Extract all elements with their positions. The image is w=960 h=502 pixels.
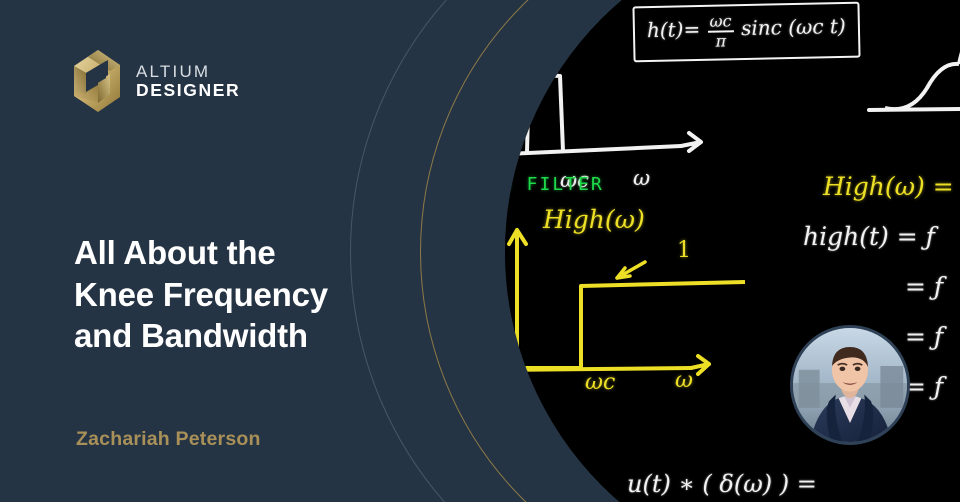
equation-high-t: high(t) = ƒ: [803, 224, 935, 249]
logo-wordmark: ALTIUM DESIGNER: [136, 62, 240, 101]
equation-denominator: π: [715, 32, 726, 49]
equation-line-4: = ƒ: [905, 374, 943, 399]
yellow-curve-fragment: [519, 0, 559, 34]
equation-numerator: ωc: [707, 13, 733, 33]
label-unity-yellow: 1: [677, 240, 691, 262]
altium-logo-mark: [72, 48, 122, 114]
title-line-2: Knee Frequency: [74, 276, 328, 313]
avatar-portrait: [793, 328, 907, 442]
equation-convolution: u(t) ∗ ( δ(ω) ) =: [627, 472, 817, 496]
title-line-1: All About the: [74, 234, 275, 271]
lowpass-plot-white: [505, 52, 735, 172]
equation-fraction: ωc π: [707, 13, 734, 50]
page-title: All About the Knee Frequency and Bandwid…: [74, 232, 454, 357]
boxed-equation: h(t)= ωc π sinc (ωc t): [632, 2, 860, 63]
label-omega-white: ω: [633, 168, 650, 189]
equation-lhs: h(t)=: [647, 19, 701, 40]
logo-line-altium: ALTIUM: [136, 62, 240, 81]
sinc-curve-plot: [865, 0, 960, 142]
article-banner: ωc ω h(t)= ωc π sinc (ωc t) S FILTER: [0, 0, 960, 502]
author-byline: Zachariah Peterson: [76, 428, 261, 451]
equation-line-2: = ƒ: [905, 274, 943, 299]
equation-high-omega: High(ω) =: [823, 174, 954, 199]
equation-rhs: sinc (ωc t): [741, 16, 846, 38]
author-avatar: [790, 325, 910, 445]
label-filter-green: S FILTER: [505, 176, 604, 194]
title-line-3: and Bandwidth: [74, 317, 308, 354]
equation-line-3: = ƒ: [905, 324, 943, 349]
logo-line-designer: DESIGNER: [136, 81, 240, 101]
altium-designer-logo[interactable]: ALTIUM DESIGNER: [72, 48, 240, 114]
label-omega-c-yellow: ωc: [585, 372, 615, 394]
label-omega-yellow: ω: [675, 370, 693, 392]
highpass-plot-yellow: [505, 222, 755, 382]
